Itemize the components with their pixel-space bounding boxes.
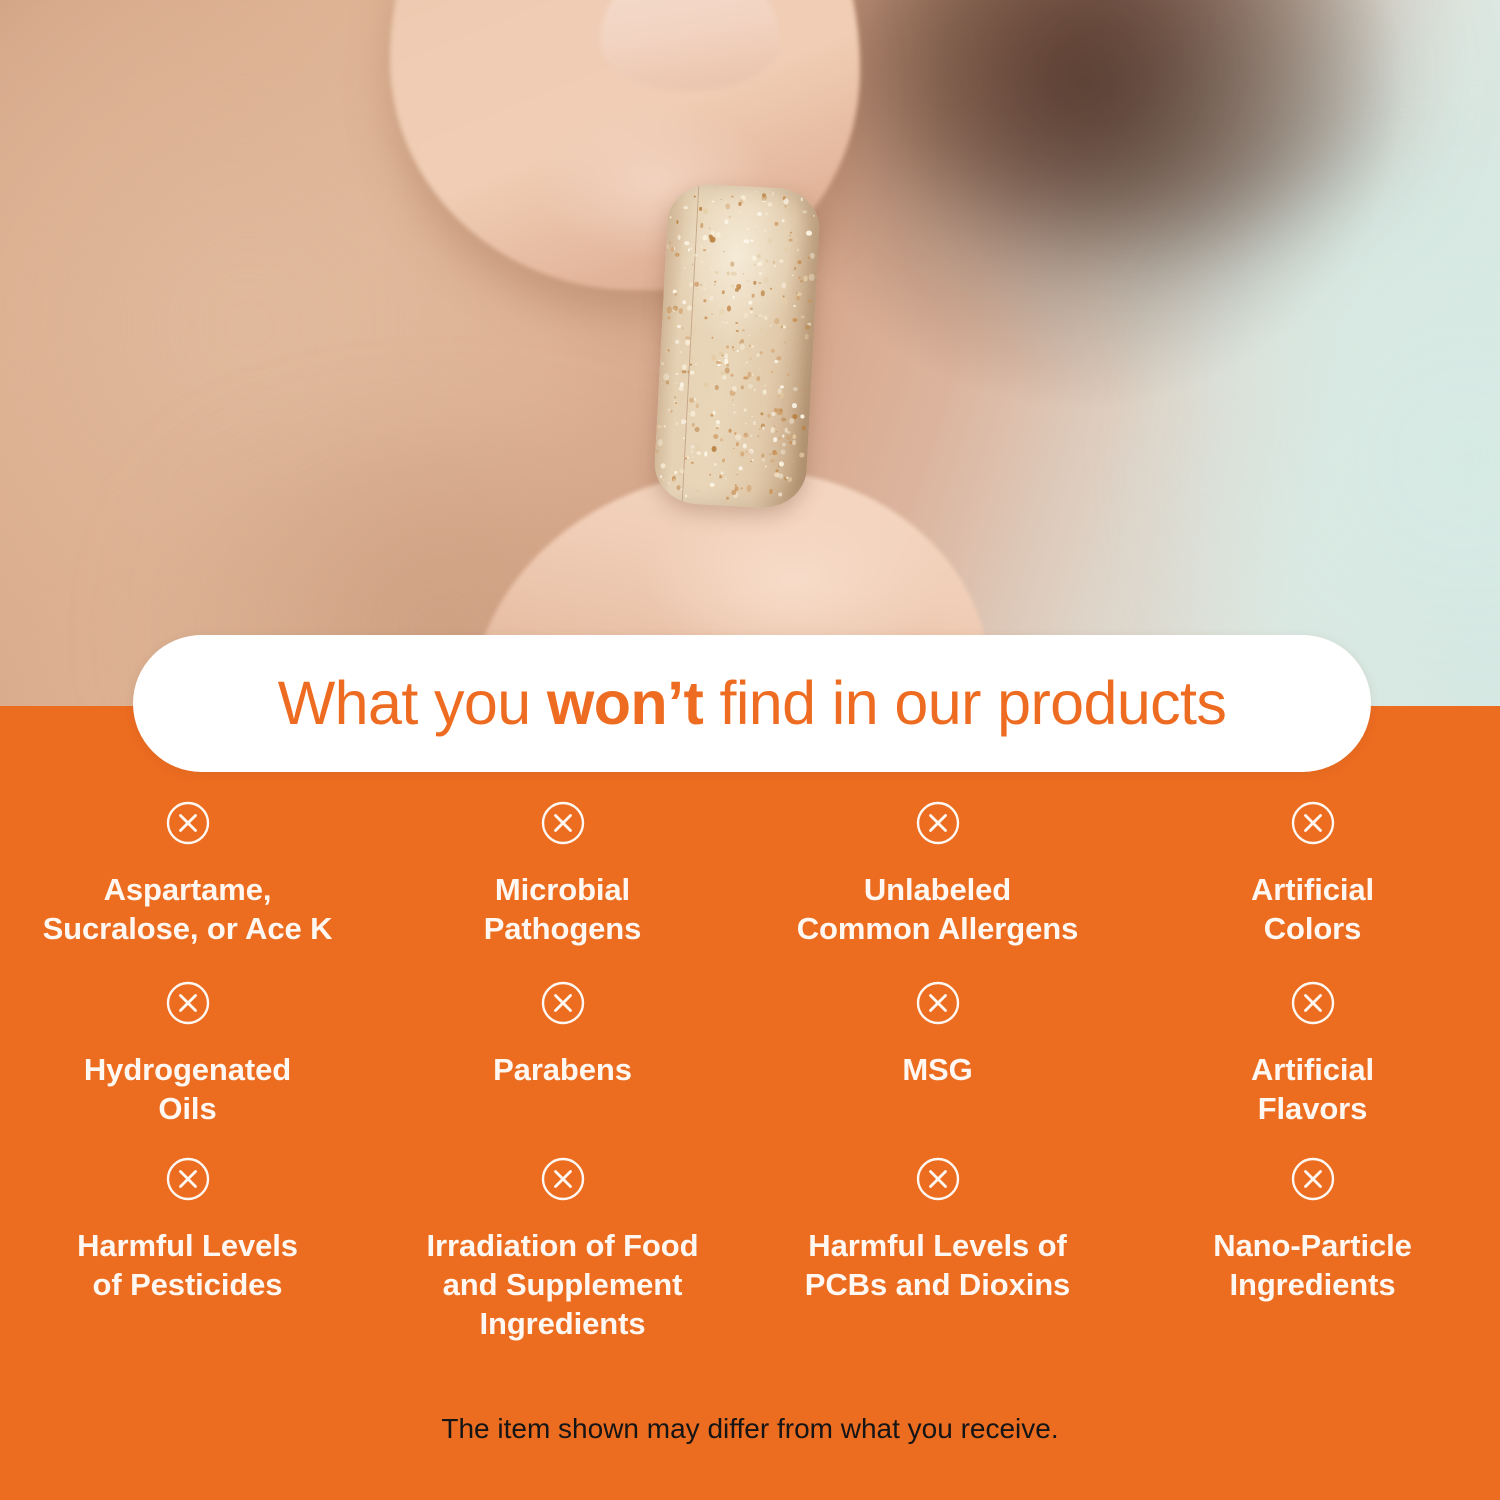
circle-x-icon [1290,1156,1336,1202]
title-suffix: find in our products [703,669,1226,737]
exclusion-item-label: ArtificialFlavors [1251,1050,1374,1128]
circle-x-icon [1290,800,1336,846]
exclusion-item-line: Sucralose, or Ace K [43,909,333,948]
title-prefix: What you [278,669,547,737]
exclusion-item-aspartame-sucralose-ace-k: Aspartame,Sucralose, or Ace K [0,800,375,980]
exclusion-item-parabens: Parabens [375,980,750,1156]
hero-photo [0,0,1500,706]
exclusion-item-line: of Pesticides [77,1265,298,1304]
exclusion-item-line: Artificial [1251,870,1374,909]
exclusion-item-label: Parabens [493,1050,632,1089]
circle-x-icon [915,1156,961,1202]
page-title: What you won’t find in our products [278,673,1227,734]
exclusion-item-line: Colors [1251,909,1374,948]
circle-x-icon [165,1156,211,1202]
exclusion-item-line: Common Allergens [797,909,1078,948]
exclusion-item-label: HydrogenatedOils [84,1050,291,1128]
circle-x-icon [915,800,961,846]
exclusion-item-label: Irradiation of Foodand SupplementIngredi… [427,1226,699,1343]
exclusion-item-label: ArtificialColors [1251,870,1374,948]
photo-blur-mint-bokeh [1180,180,1500,706]
exclusion-item-label: MicrobialPathogens [484,870,642,948]
title-emphasis: won’t [547,669,703,737]
exclusion-item-unlabeled-common-allergens: UnlabeledCommon Allergens [750,800,1125,980]
circle-x-icon [165,800,211,846]
exclusion-item-label: Harmful Levelsof Pesticides [77,1226,298,1304]
exclusion-item-msg: MSG [750,980,1125,1156]
exclusion-item-line: Microbial [484,870,642,909]
exclusion-item-label: Nano-ParticleIngredients [1213,1226,1412,1304]
exclusion-item-label: MSG [902,1050,972,1089]
exclusion-item-harmful-levels-of-pesticides: Harmful Levelsof Pesticides [0,1156,375,1343]
disclaimer-text: The item shown may differ from what you … [0,1412,1500,1446]
exclusion-item-line: and Supplement [427,1265,699,1304]
exclusion-item-label: Aspartame,Sucralose, or Ace K [43,870,333,948]
exclusion-item-line: Harmful Levels [77,1226,298,1265]
exclusion-item-line: Oils [84,1089,291,1128]
circle-x-icon [540,980,586,1026]
exclusion-item-line: Nano-Particle [1213,1226,1412,1265]
circle-x-icon [165,980,211,1026]
circle-x-icon [540,1156,586,1202]
exclusion-item-line: Aspartame, [43,870,333,909]
exclusion-item-line: Irradiation of Food [427,1226,699,1265]
exclusion-item-line: Harmful Levels of [805,1226,1070,1265]
exclusion-item-line: Pathogens [484,909,642,948]
supplement-tablet [653,182,822,510]
exclusion-item-nano-particle-ingredients: Nano-ParticleIngredients [1125,1156,1500,1343]
thumbnail-shape [600,0,780,90]
marketing-infographic: What you won’t find in our products Aspa… [0,0,1500,1500]
circle-x-icon [915,980,961,1026]
exclusion-item-line: Artificial [1251,1050,1374,1089]
exclusion-item-line: PCBs and Dioxins [805,1265,1070,1304]
exclusion-item-label: UnlabeledCommon Allergens [797,870,1078,948]
title-pill: What you won’t find in our products [133,635,1371,772]
circle-x-icon [1290,980,1336,1026]
exclusion-item-line: Ingredients [427,1304,699,1343]
photo-blur-dark-bokeh [850,0,1470,240]
exclusion-item-microbial-pathogens: MicrobialPathogens [375,800,750,980]
exclusion-item-line: Ingredients [1213,1265,1412,1304]
exclusion-item-hydrogenated-oils: HydrogenatedOils [0,980,375,1156]
exclusions-grid: Aspartame,Sucralose, or Ace KMicrobialPa… [0,800,1500,1343]
circle-x-icon [540,800,586,846]
exclusion-item-line: Hydrogenated [84,1050,291,1089]
exclusion-item-artificial-flavors: ArtificialFlavors [1125,980,1500,1156]
exclusion-item-irradiation-of-food-and-supplement-ingredients: Irradiation of Foodand SupplementIngredi… [375,1156,750,1343]
exclusion-item-line: MSG [902,1050,972,1089]
exclusion-item-label: Harmful Levels ofPCBs and Dioxins [805,1226,1070,1304]
exclusion-item-artificial-colors: ArtificialColors [1125,800,1500,980]
exclusion-item-line: Flavors [1251,1089,1374,1128]
exclusion-item-harmful-levels-of-pcbs-and-dioxins: Harmful Levels ofPCBs and Dioxins [750,1156,1125,1343]
exclusion-item-line: Parabens [493,1050,632,1089]
exclusion-item-line: Unlabeled [797,870,1078,909]
